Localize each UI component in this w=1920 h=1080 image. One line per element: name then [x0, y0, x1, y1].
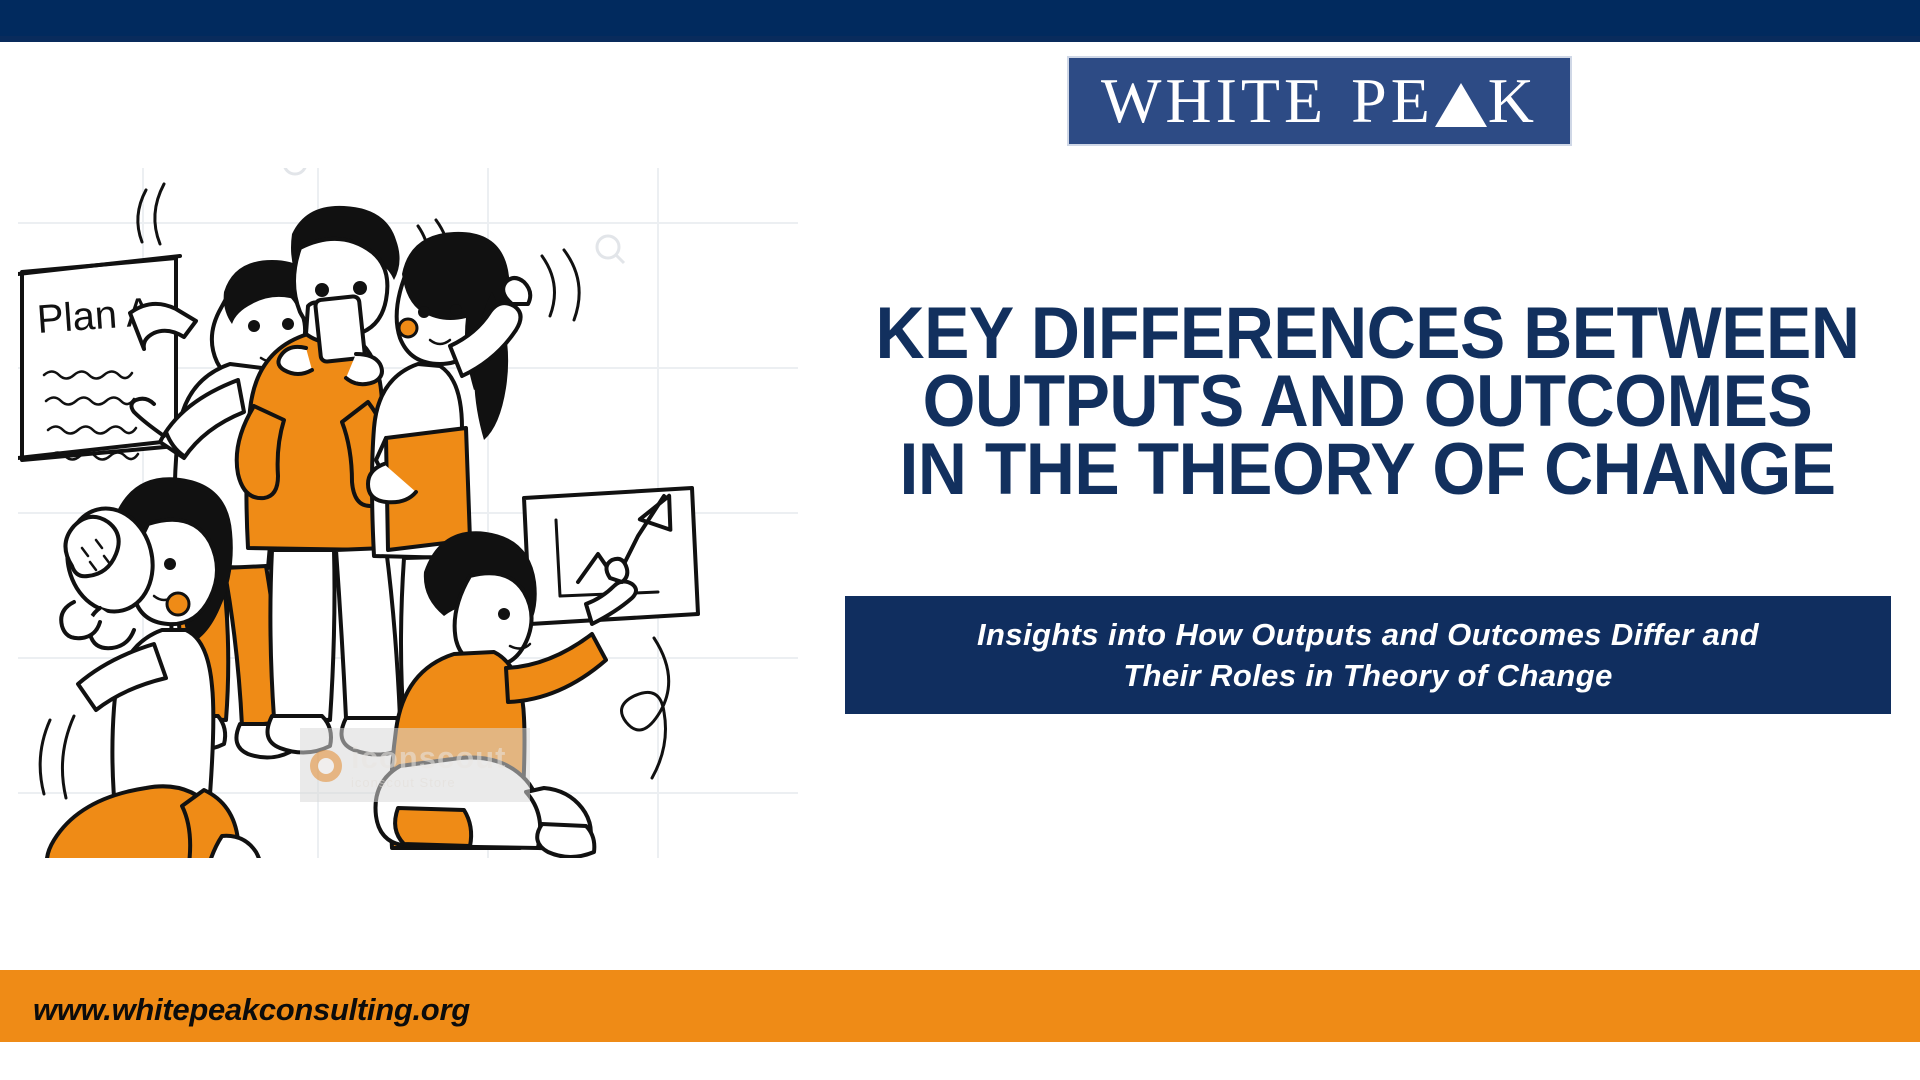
brand-logo[interactable]: WHITE PE K	[1067, 56, 1572, 146]
title-line-1: KEY DIFFERENCES BETWEEN	[868, 300, 1868, 368]
subtitle-line-1: Insights into How Outputs and Outcomes D…	[977, 617, 1759, 652]
kneeling-woman-with-mirror	[40, 477, 264, 858]
subtitle-banner: Insights into How Outputs and Outcomes D…	[845, 596, 1891, 714]
footer-website-url[interactable]: www.whitepeakconsulting.org	[33, 992, 470, 1028]
logo-word-white: WHITE	[1101, 69, 1327, 133]
watermark-plate	[300, 728, 530, 802]
logo-word-k: K	[1488, 69, 1538, 133]
subtitle-text: Insights into How Outputs and Outcomes D…	[949, 614, 1787, 696]
presentation-slide: WHITE PE K KEY DIFFERENCES BETWEEN OUTPU…	[0, 0, 1920, 1080]
brand-logo-text: WHITE PE K	[1101, 69, 1538, 133]
logo-word-pe: PE	[1351, 69, 1434, 133]
page-title: KEY DIFFERENCES BETWEEN OUTPUTS AND OUTC…	[868, 300, 1868, 504]
subtitle-line-2: Their Roles in Theory of Change	[1123, 658, 1613, 693]
title-line-2: OUTPUTS AND OUTCOMES	[868, 368, 1868, 436]
title-line-3: IN THE THEORY OF CHANGE	[868, 436, 1868, 504]
mountain-peak-icon	[1435, 83, 1487, 127]
top-accent-bar-shadow	[0, 36, 1920, 42]
